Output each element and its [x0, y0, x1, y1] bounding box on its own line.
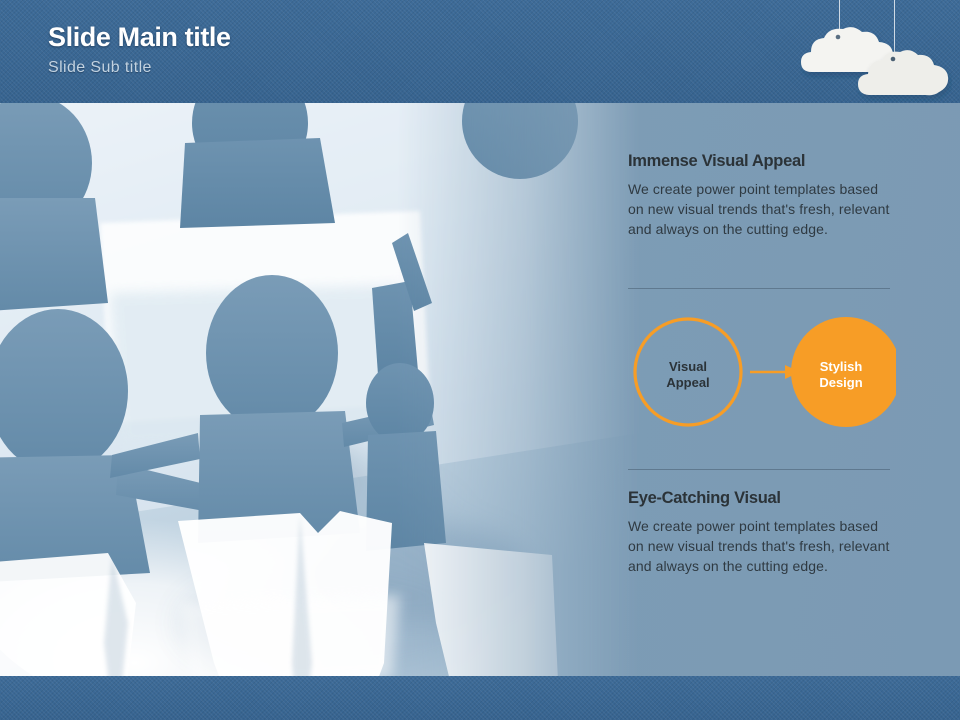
slide-body: Immense Visual Appeal We create power po… [0, 103, 960, 676]
page-title: Slide Main title [48, 24, 231, 51]
diagram-graphic [628, 311, 896, 439]
node-stylish-design-circle [791, 317, 896, 427]
content-column: Immense Visual Appeal We create power po… [628, 103, 896, 676]
slide: Slide Main title Slide Sub title [0, 0, 960, 720]
title-block: Slide Main title Slide Sub title [48, 24, 231, 76]
paper-people-photo [0, 103, 640, 676]
process-flow-diagram: Visual Appeal Stylish Design [628, 311, 896, 439]
divider [628, 469, 890, 470]
section-body-1: We create power point templates based on… [628, 180, 890, 240]
section-block-2: Eye-Catching Visual We create power poin… [628, 489, 890, 577]
slide-footer [0, 676, 960, 720]
section-body-2: We create power point templates based on… [628, 517, 890, 577]
page-subtitle: Slide Sub title [48, 60, 231, 76]
section-block-1: Immense Visual Appeal We create power po… [628, 152, 890, 240]
node-visual-appeal-circle [635, 319, 741, 425]
slide-header: Slide Main title Slide Sub title [0, 0, 960, 103]
divider [628, 288, 890, 289]
cloud-decoration [800, 0, 950, 100]
cloud-icon [856, 48, 952, 102]
section-heading-1: Immense Visual Appeal [628, 152, 890, 171]
section-heading-2: Eye-Catching Visual [628, 489, 890, 508]
